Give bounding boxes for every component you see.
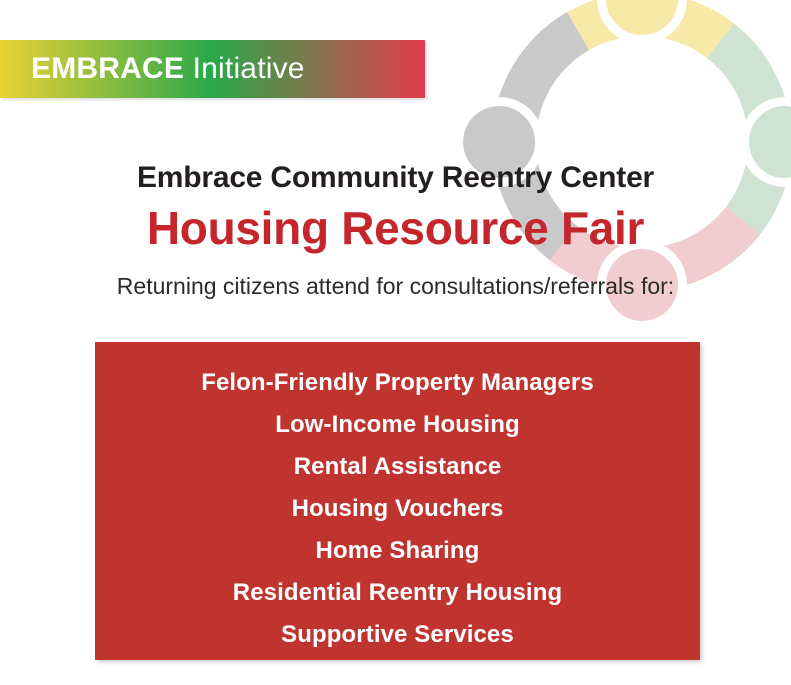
organization-name: Embrace Community Reentry Center [0, 158, 791, 198]
subtitle-text: Returning citizens attend for consultati… [0, 270, 791, 302]
banner-label: EMBRACE Initiative [0, 52, 305, 86]
service-item: Housing Vouchers [292, 488, 504, 530]
service-item: Rental Assistance [294, 446, 502, 488]
service-item: Supportive Services [281, 614, 514, 656]
watermark-figure-yellow [524, 0, 772, 89]
banner-brand: EMBRACE [31, 52, 184, 85]
service-item: Home Sharing [316, 530, 480, 572]
page-title: Housing Resource Fair [0, 200, 791, 256]
banner-word: Initiative [193, 52, 305, 85]
heading-block: Embrace Community Reentry Center Housing… [0, 158, 791, 302]
service-item: Residential Reentry Housing [233, 572, 562, 614]
services-panel: Felon-Friendly Property ManagersLow-Inco… [95, 342, 700, 660]
flyer-canvas: EMBRACE Initiative Embrace Community Ree… [0, 0, 791, 685]
service-item: Low-Income Housing [275, 404, 519, 446]
embrace-initiative-banner: EMBRACE Initiative [0, 40, 425, 98]
service-item: Felon-Friendly Property Managers [201, 362, 594, 404]
